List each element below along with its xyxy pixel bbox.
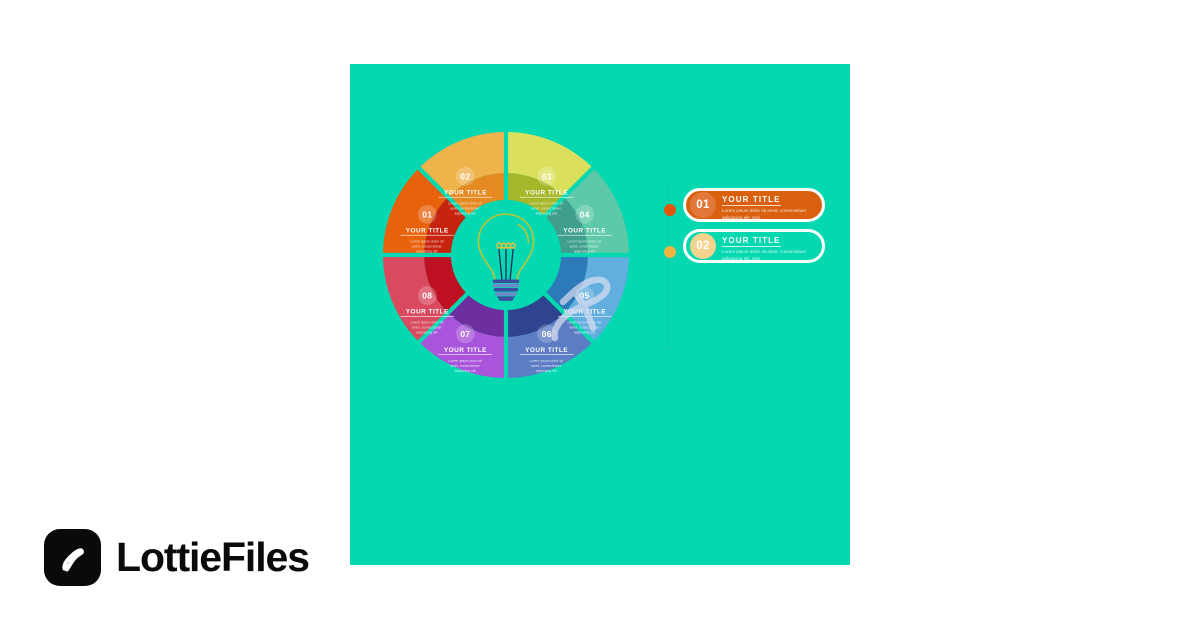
segment-title: YOUR TITLE bbox=[525, 347, 568, 354]
timeline-dashed-line bbox=[668, 184, 671, 349]
timeline-dot-02[interactable] bbox=[664, 246, 676, 258]
segment-title: YOUR TITLE bbox=[563, 228, 606, 235]
segment-title: YOUR TITLE bbox=[406, 309, 449, 316]
info-card-02-wrapper[interactable]: 02 YOUR TITLE Lorem ipsum dolor sit amet… bbox=[683, 229, 825, 263]
info-card-01-wrapper[interactable]: 01 YOUR TITLE Lorem ipsum dolor sit amet… bbox=[683, 188, 825, 222]
segment-title: YOUR TITLE bbox=[525, 189, 568, 196]
segment-number: 08 bbox=[422, 291, 432, 301]
segment-number: 04 bbox=[580, 209, 590, 219]
info-card-01-text: YOUR TITLE Lorem ipsum dolor sit amet, c… bbox=[716, 189, 822, 222]
info-card-01-body: Lorem ipsum dolor sit amet, consectetuer… bbox=[722, 208, 816, 221]
segment-title: YOUR TITLE bbox=[444, 189, 487, 196]
segment-number: 02 bbox=[460, 171, 470, 181]
info-card-02-title: YOUR TITLE bbox=[722, 236, 781, 247]
segment-title: YOUR TITLE bbox=[406, 228, 449, 235]
info-card-01[interactable]: 01 YOUR TITLE Lorem ipsum dolor sit amet… bbox=[683, 188, 825, 222]
artwork-canvas: 01 YOUR TITLE Lorem ipsum dolor sit amet… bbox=[350, 64, 850, 565]
segment-number: 07 bbox=[460, 329, 470, 339]
info-card-02[interactable]: 02 YOUR TITLE Lorem ipsum dolor sit amet… bbox=[683, 229, 825, 263]
lottiefiles-logo-icon bbox=[44, 529, 101, 586]
info-card-02-text: YOUR TITLE Lorem ipsum dolor sit amet, c… bbox=[716, 230, 822, 263]
segment-title: YOUR TITLE bbox=[444, 347, 487, 354]
lottiefiles-branding: LottieFiles bbox=[44, 529, 309, 586]
lottiefiles-wordmark: LottieFiles bbox=[116, 534, 309, 581]
donut-infographic-wheel: 01 YOUR TITLE Lorem ipsum dolor sit amet… bbox=[383, 132, 629, 378]
lightbulb-icon bbox=[478, 214, 533, 301]
info-card-01-title: YOUR TITLE bbox=[722, 195, 781, 206]
segment-number: 03 bbox=[542, 171, 552, 181]
page-root: 01 YOUR TITLE Lorem ipsum dolor sit amet… bbox=[0, 0, 1200, 630]
info-card-01-badge: 01 bbox=[690, 192, 716, 218]
info-card-02-badge: 02 bbox=[690, 233, 716, 259]
segment-number: 06 bbox=[542, 329, 552, 339]
info-card-02-body: Lorem ipsum dolor sit amet, consectetuer… bbox=[722, 249, 816, 262]
timeline-dot-01[interactable] bbox=[664, 204, 676, 216]
segment-number: 01 bbox=[422, 209, 432, 219]
